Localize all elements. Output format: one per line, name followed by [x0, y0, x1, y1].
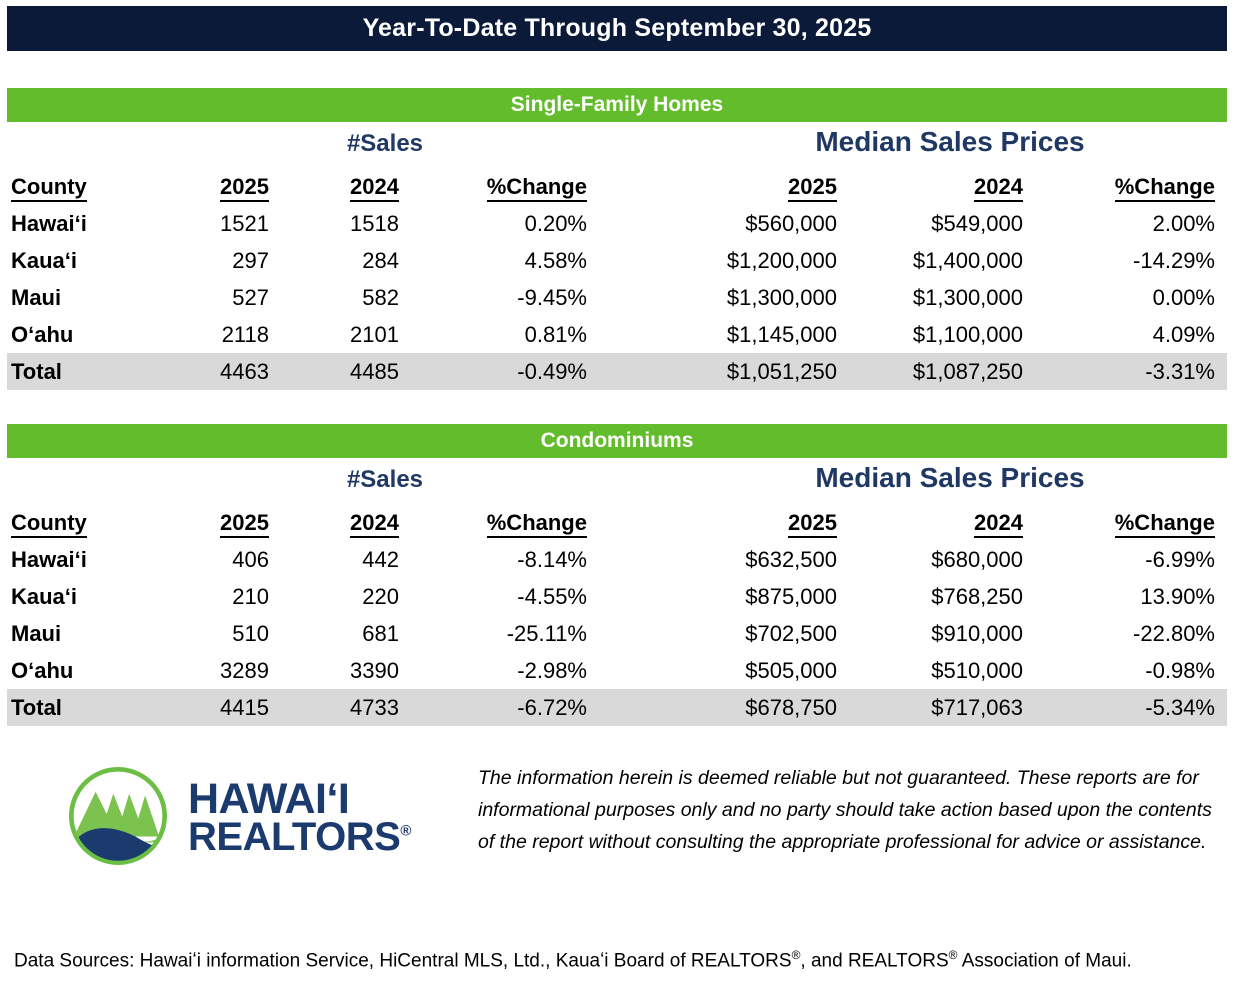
cell-spacer	[599, 689, 661, 726]
cell-price-2024: $1,300,000	[855, 279, 1041, 316]
col-header-spacer	[599, 504, 661, 541]
section-band-label: Condominiums	[541, 429, 694, 453]
group-header-prices-condominiums: Median Sales Prices	[740, 462, 1160, 494]
cell-price-2024: $1,087,250	[855, 353, 1041, 390]
cell-sales-change: -6.72%	[417, 689, 599, 726]
cell-price-change: 2.00%	[1041, 205, 1227, 242]
table-row-total: Total 4415 4733 -6.72% $678,750 $717,063…	[7, 689, 1227, 726]
cell-price-change: 4.09%	[1041, 316, 1227, 353]
cell-price-change: 0.00%	[1041, 279, 1227, 316]
cell-sales-2024: 4733	[287, 689, 417, 726]
col-header-price-2024: 2024	[855, 168, 1041, 205]
page-title: Year-To-Date Through September 30, 2025	[363, 14, 872, 43]
group-header-prices-single-family: Median Sales Prices	[740, 126, 1160, 158]
cell-sales-2024: 3390	[287, 652, 417, 689]
cell-sales-2025: 297	[155, 242, 287, 279]
table-condominiums: County 2025 2024 %Change 2025 2024 %Chan…	[7, 504, 1227, 726]
table-single-family: County 2025 2024 %Change 2025 2024 %Chan…	[7, 168, 1227, 390]
cell-price-change: -14.29%	[1041, 242, 1227, 279]
cell-sales-2025: 210	[155, 578, 287, 615]
cell-price-2024: $768,250	[855, 578, 1041, 615]
cell-spacer	[599, 316, 661, 353]
cell-price-change: 13.90%	[1041, 578, 1227, 615]
cell-sales-2025: 4463	[155, 353, 287, 390]
mountain-wave-circle-icon	[62, 760, 174, 872]
section-band-condominiums: Condominiums	[7, 424, 1227, 458]
cell-county: Oʻahu	[7, 316, 155, 353]
cell-sales-2024: 681	[287, 615, 417, 652]
cell-county: Kauaʻi	[7, 578, 155, 615]
cell-sales-change: -9.45%	[417, 279, 599, 316]
cell-price-2025: $1,300,000	[661, 279, 855, 316]
cell-county: Kauaʻi	[7, 242, 155, 279]
data-sources-suffix: Association of Maui.	[957, 950, 1131, 971]
cell-spacer	[599, 279, 661, 316]
col-header-sales-2024: 2024	[287, 504, 417, 541]
col-header-sales-2024: 2024	[287, 168, 417, 205]
col-header-sales-2025: 2025	[155, 168, 287, 205]
data-sources-middle: , and REALTORS	[800, 950, 948, 971]
cell-sales-change: -2.98%	[417, 652, 599, 689]
cell-spacer	[599, 353, 661, 390]
table-row: Hawaiʻi 406 442 -8.14% $632,500 $680,000…	[7, 541, 1227, 578]
cell-spacer	[599, 652, 661, 689]
cell-sales-2025: 510	[155, 615, 287, 652]
cell-sales-2024: 582	[287, 279, 417, 316]
cell-price-2025: $1,200,000	[661, 242, 855, 279]
hawaii-realtors-logo: HAWAIʻI REALTORS®	[62, 760, 411, 872]
cell-sales-2025: 1521	[155, 205, 287, 242]
cell-county: Oʻahu	[7, 652, 155, 689]
cell-price-2025: $678,750	[661, 689, 855, 726]
table-row: Maui 510 681 -25.11% $702,500 $910,000 -…	[7, 615, 1227, 652]
table-row: Hawaiʻi 1521 1518 0.20% $560,000 $549,00…	[7, 205, 1227, 242]
col-header-county: County	[7, 504, 155, 541]
col-header-county: County	[7, 168, 155, 205]
data-sources-text: Data Sources: Hawaiʻi information Servic…	[14, 948, 1132, 972]
cell-price-change: -5.34%	[1041, 689, 1227, 726]
cell-spacer	[599, 615, 661, 652]
cell-sales-change: -8.14%	[417, 541, 599, 578]
cell-price-2025: $1,051,250	[661, 353, 855, 390]
cell-price-2024: $549,000	[855, 205, 1041, 242]
cell-price-2025: $702,500	[661, 615, 855, 652]
cell-price-2024: $680,000	[855, 541, 1041, 578]
col-header-price-2024: 2024	[855, 504, 1041, 541]
cell-county: Hawaiʻi	[7, 541, 155, 578]
data-sources-prefix: Data Sources: Hawaiʻi information Servic…	[14, 950, 792, 971]
cell-sales-2025: 3289	[155, 652, 287, 689]
cell-price-change: -22.80%	[1041, 615, 1227, 652]
table-row: Oʻahu 3289 3390 -2.98% $505,000 $510,000…	[7, 652, 1227, 689]
cell-price-2025: $505,000	[661, 652, 855, 689]
registered-trademark-icon: ®	[400, 823, 411, 840]
cell-spacer	[599, 541, 661, 578]
cell-county: Maui	[7, 615, 155, 652]
cell-price-2025: $632,500	[661, 541, 855, 578]
cell-price-2024: $510,000	[855, 652, 1041, 689]
table-row: Oʻahu 2118 2101 0.81% $1,145,000 $1,100,…	[7, 316, 1227, 353]
cell-county: Total	[7, 689, 155, 726]
col-header-price-change: %Change	[1041, 504, 1227, 541]
cell-sales-2025: 2118	[155, 316, 287, 353]
cell-price-2024: $910,000	[855, 615, 1041, 652]
section-band-single-family: Single-Family Homes	[7, 88, 1227, 122]
cell-county: Maui	[7, 279, 155, 316]
cell-sales-2024: 4485	[287, 353, 417, 390]
cell-sales-2024: 442	[287, 541, 417, 578]
disclaimer-text: The information herein is deemed reliabl…	[478, 762, 1218, 858]
cell-spacer	[599, 205, 661, 242]
col-header-price-2025: 2025	[661, 168, 855, 205]
col-header-sales-2025: 2025	[155, 504, 287, 541]
cell-price-2024: $717,063	[855, 689, 1041, 726]
cell-price-2025: $560,000	[661, 205, 855, 242]
table-row: Kauaʻi 210 220 -4.55% $875,000 $768,250 …	[7, 578, 1227, 615]
col-header-sales-change: %Change	[417, 504, 599, 541]
logo-wordmark: HAWAIʻI REALTORS®	[188, 779, 411, 857]
cell-sales-change: -25.11%	[417, 615, 599, 652]
table-row: Kauaʻi 297 284 4.58% $1,200,000 $1,400,0…	[7, 242, 1227, 279]
col-header-spacer	[599, 168, 661, 205]
cell-sales-2024: 2101	[287, 316, 417, 353]
cell-sales-2024: 1518	[287, 205, 417, 242]
group-header-sales-condominiums: #Sales	[255, 466, 515, 494]
table-header-row: County 2025 2024 %Change 2025 2024 %Chan…	[7, 168, 1227, 205]
cell-spacer	[599, 242, 661, 279]
cell-price-2025: $875,000	[661, 578, 855, 615]
logo-line-1: HAWAIʻI	[188, 779, 411, 819]
cell-spacer	[599, 578, 661, 615]
cell-price-2024: $1,400,000	[855, 242, 1041, 279]
cell-sales-2025: 4415	[155, 689, 287, 726]
table-header-row: County 2025 2024 %Change 2025 2024 %Chan…	[7, 504, 1227, 541]
cell-sales-change: 0.20%	[417, 205, 599, 242]
cell-sales-change: -0.49%	[417, 353, 599, 390]
report-title-bar: Year-To-Date Through September 30, 2025	[7, 6, 1227, 51]
cell-county: Total	[7, 353, 155, 390]
logo-line-2: REALTORS®	[188, 819, 411, 857]
cell-county: Hawaiʻi	[7, 205, 155, 242]
cell-sales-2024: 284	[287, 242, 417, 279]
table-row-total: Total 4463 4485 -0.49% $1,051,250 $1,087…	[7, 353, 1227, 390]
cell-sales-2025: 527	[155, 279, 287, 316]
col-header-price-2025: 2025	[661, 504, 855, 541]
cell-price-change: -3.31%	[1041, 353, 1227, 390]
table-row: Maui 527 582 -9.45% $1,300,000 $1,300,00…	[7, 279, 1227, 316]
cell-price-change: -6.99%	[1041, 541, 1227, 578]
cell-sales-2024: 220	[287, 578, 417, 615]
cell-sales-change: 0.81%	[417, 316, 599, 353]
section-band-label: Single-Family Homes	[511, 93, 723, 117]
cell-price-2024: $1,100,000	[855, 316, 1041, 353]
footer-zone: HAWAIʻI REALTORS® The information herein…	[0, 752, 1234, 892]
cell-sales-2025: 406	[155, 541, 287, 578]
col-header-price-change: %Change	[1041, 168, 1227, 205]
report-page: Year-To-Date Through September 30, 2025 …	[0, 0, 1234, 1004]
cell-price-change: -0.98%	[1041, 652, 1227, 689]
cell-sales-change: -4.55%	[417, 578, 599, 615]
cell-sales-change: 4.58%	[417, 242, 599, 279]
cell-price-2025: $1,145,000	[661, 316, 855, 353]
col-header-sales-change: %Change	[417, 168, 599, 205]
group-header-sales-single-family: #Sales	[255, 130, 515, 158]
